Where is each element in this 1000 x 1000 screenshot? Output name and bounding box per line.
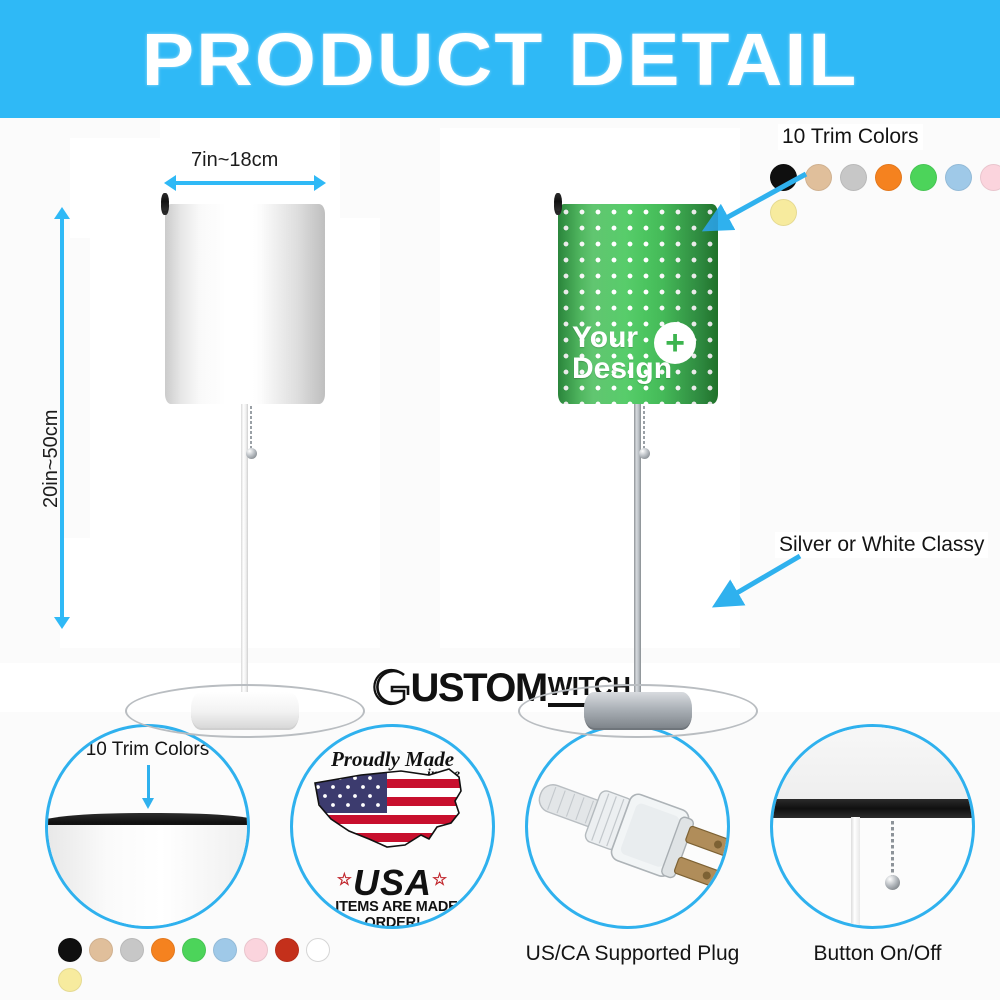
lamp-shade-white <box>165 204 325 404</box>
trim-swatch-red[interactable] <box>275 938 299 962</box>
star-icon: ☆ <box>337 870 353 889</box>
width-dimension-arrow <box>175 181 315 185</box>
trim-swatch-pink[interactable] <box>980 164 1000 191</box>
trim-down-arrow-icon <box>147 765 150 799</box>
lamp-base-white <box>191 692 299 730</box>
pull-chain-closeup[interactable] <box>891 821 894 877</box>
power-plug-icon <box>528 727 730 929</box>
pull-chain[interactable] <box>250 406 252 450</box>
trim-swatch-black[interactable] <box>58 938 82 962</box>
feature-circle-trim: 10 Trim Colors <box>45 724 250 929</box>
pull-chain[interactable] <box>643 406 645 450</box>
star-icon: ☆ <box>432 870 448 889</box>
pull-chain-ball-icon[interactable] <box>639 448 650 459</box>
usa-badge-bottom-text: ALL ITEMS ARE MADE TO ORDER! <box>293 899 492 929</box>
width-dimension-label: 7in~18cm <box>188 148 281 173</box>
bottom-trim-swatches <box>58 938 330 998</box>
lamp-stem-closeup <box>851 817 860 929</box>
page-title: PRODUCT DETAIL <box>142 17 859 102</box>
feature-circle-usa: Proudly Made in the <box>290 724 495 929</box>
trim-swatch-tan[interactable] <box>89 938 113 962</box>
trim-bottom-black <box>161 193 169 211</box>
pull-chain-ball-icon[interactable] <box>246 448 257 459</box>
main-product-stage: 7in~18cm 20in~50cm Your <box>0 118 1000 663</box>
trim-swatch-white[interactable] <box>306 938 330 962</box>
feature-trim-inner-label: 10 Trim Colors <box>48 739 247 761</box>
product-detail-page: PRODUCT DETAIL 7in~18cm 20in~50cm <box>0 0 1000 1000</box>
feature-button-caption: Button On/Off <box>770 942 985 966</box>
design-line-2: Design <box>572 352 672 385</box>
trim-swatch-light-blue[interactable] <box>213 938 237 962</box>
bottom-swatch-row-1 <box>58 938 330 962</box>
feature-circle-button <box>770 724 975 929</box>
add-design-plus-icon[interactable]: + <box>654 322 696 364</box>
height-dimension-arrow <box>60 218 64 618</box>
trim-swatch-light-blue[interactable] <box>945 164 972 191</box>
shade-bottom-closeup <box>773 727 975 805</box>
base-finish-pointer-arrow-icon <box>700 548 810 618</box>
shade-closeup <box>45 825 250 929</box>
trim-swatch-yellow[interactable] <box>58 968 82 992</box>
lamp-base-silver <box>584 692 692 730</box>
trim-bottom-black <box>554 193 562 211</box>
page-banner: PRODUCT DETAIL <box>0 0 1000 118</box>
feature-circle-plug <box>525 724 730 929</box>
bottom-swatch-row-2 <box>58 968 330 992</box>
feature-plug-caption: US/CA Supported Plug <box>525 942 740 966</box>
trim-swatch-orange[interactable] <box>151 938 175 962</box>
trim-pointer-arrow-icon <box>690 166 815 236</box>
trim-swatch-gray[interactable] <box>120 938 144 962</box>
design-line-1: Your <box>572 321 638 354</box>
feature-trim-colors: 10 Trim Colors <box>45 724 260 929</box>
shade-surface <box>165 204 325 404</box>
trim-colors-callout-label: 10 Trim Colors <box>778 124 923 150</box>
pull-chain-ball-closeup-icon[interactable] <box>885 875 900 890</box>
trim-swatch-green[interactable] <box>182 938 206 962</box>
trim-swatch-pink[interactable] <box>244 938 268 962</box>
usa-flag-map-icon <box>309 761 484 857</box>
trim-swatch-green[interactable] <box>910 164 937 191</box>
trim-swatch-gray[interactable] <box>840 164 867 191</box>
feature-made-in-usa: Proudly Made in the <box>290 724 505 929</box>
logo-c-mark-icon <box>370 667 410 707</box>
usa-badge-word: ☆USA☆ <box>293 862 492 904</box>
feature-plug: US/CA Supported Plug <box>525 724 740 929</box>
trim-swatch-orange[interactable] <box>875 164 902 191</box>
bg-block <box>60 538 120 648</box>
feature-button: Button On/Off <box>770 724 985 929</box>
feature-highlights: 10 Trim Colors Proudly Made in the <box>0 712 1000 1000</box>
trim-band-closeup <box>770 799 975 818</box>
